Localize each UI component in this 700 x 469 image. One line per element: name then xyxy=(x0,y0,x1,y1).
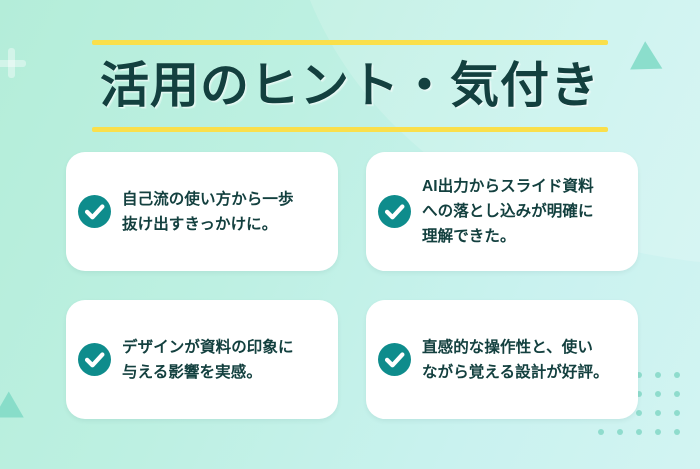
card-text: 自己流の使い方から一歩 抜け出すきっかけに。 xyxy=(122,187,294,237)
triangle-icon-top-right xyxy=(630,41,670,82)
card-text: AI出力からスライド資料 への落とし込みが明確に 理解できた。 xyxy=(422,174,594,249)
card-line: ながら覚える設計が好評。 xyxy=(422,360,609,385)
card-item: 自己流の使い方から一歩 抜け出すきっかけに。 xyxy=(66,152,338,271)
title-block: 活用のヒント・気付き xyxy=(92,40,608,132)
card-line: 抜け出すきっかけに。 xyxy=(122,212,294,237)
slide-canvas: 活用のヒント・気付き 自己流の使い方から一歩 抜け出すきっかけに。 AI出力から… xyxy=(0,0,700,469)
card-text: 直感的な操作性と、使い ながら覚える設計が好評。 xyxy=(422,335,609,385)
card-line: 直感的な操作性と、使い xyxy=(422,335,609,360)
check-circle-icon xyxy=(78,195,111,228)
title-rule-bottom xyxy=(92,127,608,132)
card-line: への落とし込みが明確に xyxy=(422,199,594,224)
card-item: AI出力からスライド資料 への落とし込みが明確に 理解できた。 xyxy=(366,152,638,271)
page-title: 活用のヒント・気付き xyxy=(92,45,608,127)
check-circle-icon xyxy=(78,343,111,376)
card-line: 理解できた。 xyxy=(422,224,594,249)
card-item: 直感的な操作性と、使い ながら覚える設計が好評。 xyxy=(366,300,638,419)
card-text: デザインが資料の印象に 与える影響を実感。 xyxy=(122,335,294,385)
plus-icon xyxy=(0,48,26,78)
card-grid: 自己流の使い方から一歩 抜け出すきっかけに。 AI出力からスライド資料 への落と… xyxy=(66,152,638,419)
card-line: 与える影響を実感。 xyxy=(122,360,294,385)
card-item: デザインが資料の印象に 与える影響を実感。 xyxy=(66,300,338,419)
triangle-icon-bottom-left xyxy=(0,392,24,431)
card-line: 自己流の使い方から一歩 xyxy=(122,187,294,212)
check-circle-icon xyxy=(378,195,411,228)
check-circle-icon xyxy=(378,343,411,376)
card-line: デザインが資料の印象に xyxy=(122,335,294,360)
card-line: AI出力からスライド資料 xyxy=(422,174,594,199)
